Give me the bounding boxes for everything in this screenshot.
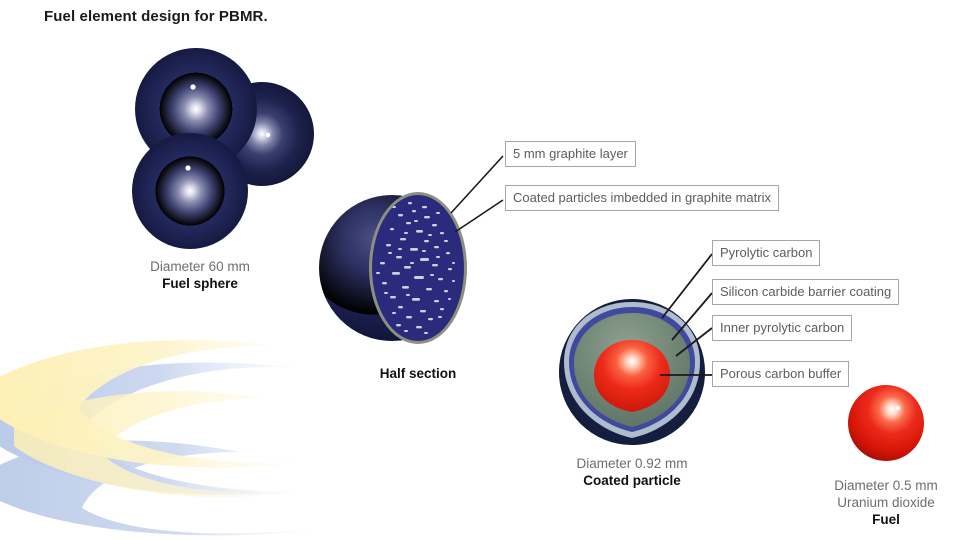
caption-fuel-kernel-name: Fuel [806, 511, 960, 528]
caption-fuel-sphere-name: Fuel sphere [90, 275, 310, 292]
callout-graphite-layer[interactable]: 5 mm graphite layer [505, 141, 636, 167]
caption-half-section: Half section [328, 365, 508, 382]
caption-coated-particle-name: Coated particle [542, 472, 722, 489]
caption-coated-particle-diameter: Diameter 0.92 mm [542, 455, 722, 472]
page-title: Fuel element design for PBMR. [44, 8, 268, 25]
caption-half-section-name: Half section [328, 365, 508, 382]
caption-coated-particle: Diameter 0.92 mm Coated particle [542, 455, 722, 489]
callout-pyrolytic-carbon[interactable]: Pyrolytic carbon [712, 240, 820, 266]
callout-silicon-carbide[interactable]: Silicon carbide barrier coating [712, 279, 899, 305]
caption-fuel-sphere-diameter: Diameter 60 mm [90, 258, 310, 275]
callout-inner-pyrolytic[interactable]: Inner pyrolytic carbon [712, 315, 852, 341]
caption-fuel-kernel-material: Uranium dioxide [806, 494, 960, 511]
callout-porous-buffer[interactable]: Porous carbon buffer [712, 361, 849, 387]
caption-fuel-kernel-diameter: Diameter 0.5 mm [806, 477, 960, 494]
callout-coated-particles[interactable]: Coated particles imbedded in graphite ma… [505, 185, 779, 211]
caption-fuel-sphere: Diameter 60 mm Fuel sphere [90, 258, 310, 292]
diagram-canvas: Fuel element design for PBMR. 5 mm graph… [0, 0, 960, 540]
caption-fuel-kernel: Diameter 0.5 mm Uranium dioxide Fuel [806, 477, 960, 528]
